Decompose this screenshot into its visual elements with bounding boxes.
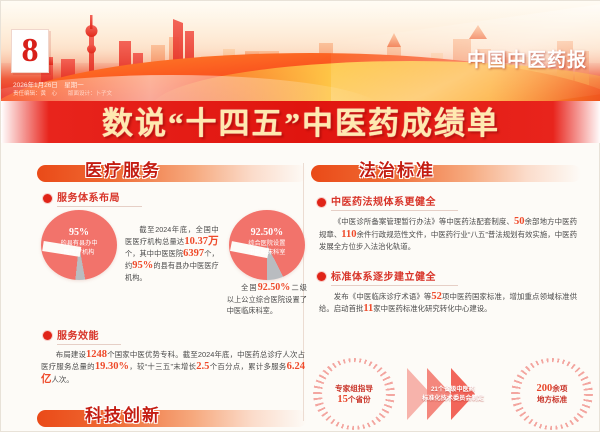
masthead-title: 中国中医药报	[467, 45, 587, 72]
right-column: 法治标准 中医药法规体系更健全 《中医诊所备案管理暂行办法》等中医药法配套制度、…	[311, 157, 581, 316]
section-header-law-standard: 法治标准	[311, 157, 581, 183]
badge-local-line3: 地方标准	[537, 394, 568, 405]
pie-label-group: 92.50% 综合医院设置中医临床科室	[229, 228, 305, 257]
std-stat-centers: 11	[363, 303, 373, 314]
section-bar	[37, 165, 307, 182]
subsection-title-service-efficiency: 服务效能	[57, 327, 121, 345]
badge-expert-value: 15	[337, 394, 348, 405]
page-title: 数说“十四五”中医药成绩单	[1, 101, 600, 149]
section-title-medical-service: 医疗服务	[85, 156, 161, 181]
pie2-stat-percent: 92.50%	[258, 282, 291, 293]
subsection-standard-system: 标准体系逐步建立健全	[317, 268, 581, 286]
badge-expert-unit: 个省份	[348, 395, 371, 404]
pie-label-group: 95% 的县有县办中医医疗机构	[41, 228, 117, 257]
pie-chart-county-tcm: 95% 的县有县办中医医疗机构	[41, 210, 117, 280]
pie1-description: 截至2024年底，全国中医医疗机构总量达10.37万个，其中中医医院6397个，…	[125, 210, 219, 317]
dateline-block: 2026年1月26日 星期一 责任编辑：黄 心 版面设计：卜子文	[13, 81, 112, 99]
pie1-stat-total: 10.37万	[184, 236, 218, 247]
pie1-stat-hospitals: 6397	[183, 248, 204, 259]
eff-text-e: 人次。	[52, 375, 74, 384]
law-stat-documents: 110	[341, 229, 356, 240]
bullet-dot-icon	[43, 194, 52, 203]
section-title-law-standard: 法治标准	[359, 156, 435, 181]
section-header-medical-service: 医疗服务	[37, 157, 307, 183]
pie-caption: 的县有县办中医医疗机构	[41, 239, 117, 257]
standard-system-text: 发布《中医临床诊疗术语》等52项中医药国家标准，增加重点领域标准供给。启动首批1…	[319, 291, 577, 316]
law-text-a: 《中医诊所备案管理暂行办法》等中医药法配套制度、	[334, 217, 514, 226]
section-bar	[311, 165, 581, 182]
bullet-dot-icon	[317, 198, 326, 207]
badge-committee-line1: 21个省级中医药	[431, 386, 475, 393]
eff-text-c: ，较“十三五”末增长	[129, 362, 196, 371]
badge-expert-line1: 专家组指导	[335, 383, 373, 394]
subsection-service-efficiency: 服务效能	[43, 327, 307, 345]
subsection-title-law-system: 中医药法规体系更健全	[331, 193, 458, 211]
badge-local-unit: 余项	[552, 384, 567, 393]
eff-text-d: 个百分点，累计多服务	[209, 362, 286, 371]
pie2-description: 全国92.50%二级以上公立综合医院设置了中医临床科室。	[227, 282, 307, 317]
badge-committee-line2: 标准化技术委员会制定	[422, 395, 484, 402]
left-column: 医疗服务 服务体系布局 95% 的县有县办中医医疗机构 截至2024年底	[37, 157, 307, 432]
subsection-title-service-system: 服务体系布局	[57, 189, 142, 207]
bullet-dot-icon	[43, 331, 52, 340]
publication-date: 2026年1月26日 星期一	[13, 81, 112, 90]
pie-caption: 综合医院设置中医临床科室	[229, 239, 305, 257]
badge-local-value: 200	[537, 383, 553, 394]
pie-chart-general-hospital: 92.50% 综合医院设置中医临床科室	[229, 210, 305, 280]
pie1-stat-percent: 95%	[132, 260, 153, 271]
subsection-title-standard-system: 标准体系逐步建立健全	[331, 268, 458, 286]
std-stat-national: 52	[431, 291, 442, 302]
badge-local-text: 200余项 地方标准	[537, 383, 568, 405]
pie-percent-value: 92.50%	[229, 228, 305, 238]
badge-expert-line2: 15个省份	[335, 394, 373, 405]
eff-text-a: 布局建设	[56, 350, 86, 359]
std-text-a: 发布《中医临床诊疗术语》等	[334, 292, 432, 301]
bullet-dot-icon	[317, 272, 326, 281]
badge-committee-arrows: 21个省级中医药 标准化技术委员会制定	[405, 359, 501, 429]
law-system-text: 《中医诊所备案管理暂行办法》等中医药法配套制度、50余部地方中医药规章、110余…	[319, 216, 577, 254]
standard-badges-group: 专家组指导 15个省份 21个省级中医药 标准化技术委员会制定 200余项 地方…	[313, 357, 593, 431]
eff-stat-specialties: 1248	[86, 349, 107, 360]
badge-expert-text: 专家组指导 15个省份	[335, 383, 373, 405]
newspaper-page: 8 中国中医药报 2026年1月26日 星期一 责任编辑：黄 心 版面设计：卜子…	[0, 0, 600, 432]
subsection-service-system: 服务体系布局	[43, 189, 307, 207]
pie-percent-value: 95%	[41, 228, 117, 238]
eff-stat-growth: 2.5	[196, 361, 209, 372]
service-efficiency-text: 布局建设1248个国家中医优势专科。截至2024年底，中医药总诊疗人次占医疗服务…	[41, 349, 305, 387]
pie1-text-mid1: 个，其中中医医院	[125, 249, 183, 258]
law-text-c: 余件行政规范性文件，中医药行业“八五”普法规划有效实施，中医药发展全方位步入法治…	[319, 230, 577, 252]
std-text-c: 家中医药标准化研究转化中心建设。	[373, 304, 491, 313]
badge-expert-guidance: 专家组指导 15个省份	[313, 358, 395, 430]
section-bar	[37, 410, 307, 427]
editor-credits: 责任编辑：黄 心 版面设计：卜子文	[13, 90, 112, 99]
badge-local-standards: 200余项 地方标准	[511, 358, 593, 430]
badge-local-line2: 200余项	[537, 383, 568, 394]
pie-chart-group: 95% 的县有县办中医医疗机构 截至2024年底，全国中医医疗机构总量达10.3…	[41, 210, 307, 317]
page-number-text: 8	[22, 34, 39, 68]
header-banner: 8 中国中医药报 2026年1月26日 星期一 责任编辑：黄 心 版面设计：卜子…	[1, 1, 600, 101]
page-number-badge: 8	[11, 29, 49, 73]
subsection-law-system: 中医药法规体系更健全	[317, 193, 581, 211]
pie-block-general-hospital: 92.50% 综合医院设置中医临床科室 全国92.50%二级以上公立综合医院设置…	[227, 210, 307, 317]
pie-block-county-tcm: 95% 的县有县办中医医疗机构	[41, 210, 117, 317]
pie2-text-prefix: 全国	[241, 283, 258, 292]
law-stat-regulations: 50	[514, 216, 525, 227]
section-header-tech-innovation: 科技创新	[37, 402, 307, 428]
section-title-tech-innovation: 科技创新	[85, 401, 161, 426]
eff-stat-share: 19.30%	[95, 361, 129, 372]
badge-committee-text: 21个省级中医药 标准化技术委员会制定	[416, 385, 490, 404]
